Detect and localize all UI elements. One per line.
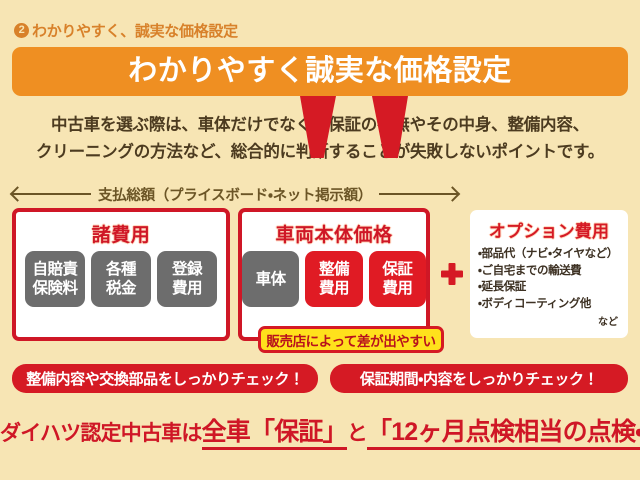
- section-number-badge: 2: [14, 23, 29, 38]
- bottom-tagline: ダイハツ認定中古車は全車「保証」と「12ヶ月点検相当の点検・整備」付き: [0, 412, 640, 448]
- list-item: ・部品代（ナビ・タイヤなど）: [478, 246, 620, 263]
- chip-line-1: 保証: [382, 260, 412, 279]
- vehicle-price-chip-group: 車体 整備 費用 保証 費用: [242, 251, 426, 307]
- list-item: ・ご自宅までの輸送費: [478, 263, 620, 280]
- chip-line-2: 費用: [172, 279, 202, 298]
- tagline-part-1: ダイハツ認定中古車は: [0, 422, 202, 445]
- chip-liability-insurance: 自賠責 保険料: [25, 251, 85, 307]
- chip-vehicle-body: 車体: [242, 251, 299, 307]
- misc-fees-box: 諸費用 自賠責 保険料 各種 税金 登録 費用: [12, 208, 230, 341]
- misc-fees-title: 諸費用: [16, 220, 226, 247]
- tagline-highlight-warranty: 全車「保証」: [202, 418, 347, 450]
- check-banner-maintenance: 整備内容や交換部品をしっかりチェック！: [12, 364, 318, 393]
- chip-line-1: 登録: [172, 260, 202, 279]
- chip-various-taxes: 各種 税金: [91, 251, 151, 307]
- option-fees-list: ・部品代（ナビ・タイヤなど） ・ご自宅までの輸送費 ・延長保証 ・ボディコーティ…: [478, 246, 620, 312]
- vehicle-price-box: 車両本体価格 車体 整備 費用 保証 費用: [238, 208, 430, 341]
- dealer-variance-callout: 販売店によって差が出やすい: [258, 326, 444, 353]
- tagline-highlight-inspection: 「12ヶ月点検相当の点検・整備」: [367, 418, 640, 450]
- chip-line-1: 自賠責: [32, 260, 77, 279]
- chip-line-1: 各種: [106, 260, 136, 279]
- total-payment-arrow-row: 支払総額（プライスボード・ネット掲示額）: [12, 184, 458, 204]
- misc-fees-chip-group: 自賠責 保険料 各種 税金 登録 費用: [16, 251, 226, 307]
- total-payment-label: 支払総額（プライスボード・ネット掲示額）: [98, 184, 372, 205]
- chip-line-1: 車体: [256, 270, 286, 289]
- chip-maintenance-fee: 整備 費用: [305, 251, 362, 307]
- vehicle-price-title: 車両本体価格: [242, 220, 426, 247]
- chip-warranty-fee: 保証 費用: [369, 251, 426, 307]
- section-eyebrow-label: わかりやすく、誠実な価格設定: [32, 20, 238, 41]
- tagline-part-2: と: [347, 422, 367, 445]
- headline-banner: わかりやすく誠実な価格設定: [12, 47, 628, 96]
- arrow-left-icon: [12, 193, 91, 195]
- arrow-right-icon: [379, 193, 458, 195]
- option-fees-title: オプション費用: [478, 217, 620, 242]
- chip-line-1: 整備: [319, 260, 349, 279]
- plus-icon: [441, 263, 463, 285]
- section-eyebrow: 2 わかりやすく、誠実な価格設定: [14, 20, 238, 41]
- list-item: ・延長保証: [478, 279, 620, 296]
- chip-line-2: 税金: [106, 279, 136, 298]
- option-fees-footnote: など: [478, 313, 620, 328]
- headline-banner-text: わかりやすく誠実な価格設定: [128, 57, 512, 86]
- chip-line-2: 費用: [382, 279, 412, 298]
- list-item: ・ボディコーティング他: [478, 296, 620, 313]
- option-fees-card: オプション費用 ・部品代（ナビ・タイヤなど） ・ご自宅までの輸送費 ・延長保証 …: [470, 210, 628, 338]
- chip-line-2: 費用: [319, 279, 349, 298]
- chip-registration-fee: 登録 費用: [157, 251, 217, 307]
- check-banner-warranty: 保証期間・内容をしっかりチェック！: [330, 364, 628, 393]
- chip-line-2: 保険料: [32, 279, 77, 298]
